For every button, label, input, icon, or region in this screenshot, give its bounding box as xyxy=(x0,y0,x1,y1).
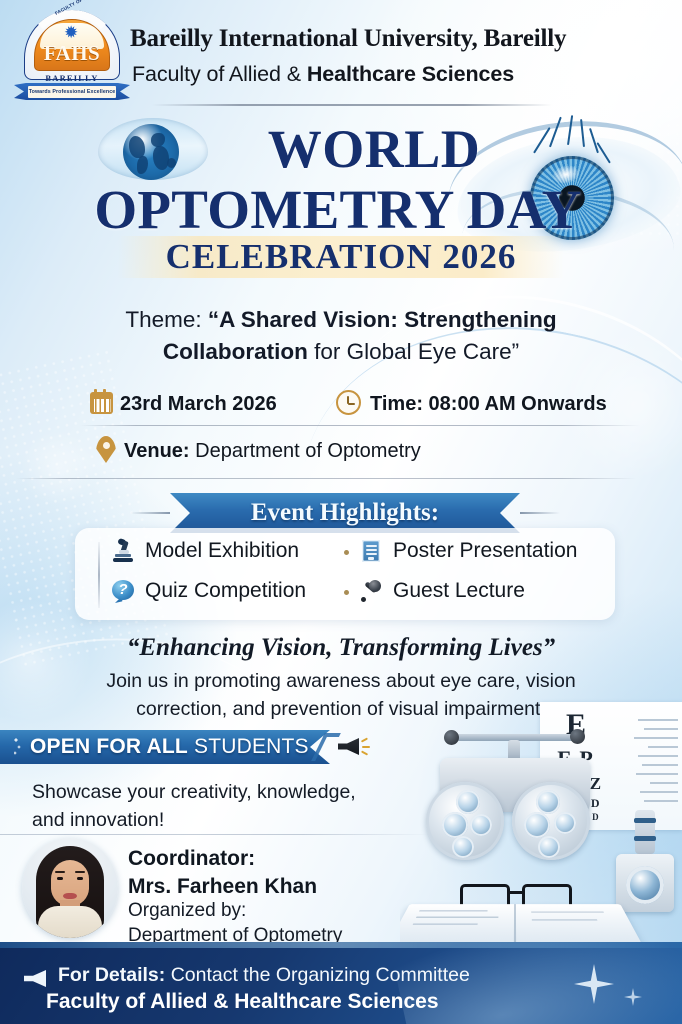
megaphone-horn xyxy=(338,738,359,755)
coordinator-divider xyxy=(0,834,430,835)
avatar-eye xyxy=(77,877,83,880)
location-pin-icon xyxy=(96,436,116,463)
logo-ribbon-text: Towards Professional Excellence xyxy=(28,86,116,98)
highlight-item-guest-lecture[interactable]: Guest Lecture xyxy=(358,578,525,604)
highlight-label: Guest Lecture xyxy=(393,579,525,603)
calendar-icon xyxy=(90,392,113,414)
event-venue: Venue: Department of Optometry xyxy=(124,440,421,463)
highlight-item-quiz-competition[interactable]: ? Quiz Competition xyxy=(110,578,306,604)
optometry-equipment-photo: E F P T O Z L P E D P E C F D xyxy=(400,698,682,948)
highlight-label: Quiz Competition xyxy=(145,579,306,603)
banner-tail-left xyxy=(130,512,170,514)
highlight-label: Poster Presentation xyxy=(393,539,577,563)
book-text-line xyxy=(419,910,487,911)
organized-by: Organized by: Department of Optometry xyxy=(128,898,428,948)
footer-details-line: For Details: Contact the Organizing Comm… xyxy=(58,964,470,987)
title-line-2: OPTOMETRY DAY xyxy=(0,182,682,237)
question-bubble-icon: ? xyxy=(110,578,136,604)
details-divider-2 xyxy=(16,478,636,479)
highlight-label: Model Exhibition xyxy=(145,539,299,563)
theme-label: Theme: xyxy=(125,307,208,332)
bullet-dot xyxy=(344,590,349,595)
event-highlights-banner: Event Highlights: xyxy=(170,493,520,533)
lensmeter-icon xyxy=(616,810,674,916)
location-pin-hole xyxy=(103,442,110,449)
header-divider xyxy=(152,104,552,106)
highlight-item-model-exhibition[interactable]: Model Exhibition xyxy=(110,538,299,564)
highlights-grid: Model Exhibition ? Quiz Competition Post… xyxy=(86,536,616,614)
avatar-lips xyxy=(63,893,77,899)
sparkle-icon xyxy=(14,738,21,756)
coordinator-info: Coordinator: Mrs. Farheen Khan xyxy=(128,845,428,901)
phoropter-lens xyxy=(470,814,492,836)
megaphone-horn xyxy=(24,970,46,987)
poster-footer: For Details: Contact the Organizing Comm… xyxy=(0,942,682,1024)
phoropter-right-disc xyxy=(512,782,590,860)
title-line-3: CELEBRATION 2026 xyxy=(0,239,682,274)
phoropter-lens xyxy=(538,836,560,858)
avatar-scarf xyxy=(38,906,102,938)
book-text-line xyxy=(532,919,598,920)
poster-header: FACULTY OF ALLIED AND HEALTHCARE SCIENCE… xyxy=(0,0,682,112)
microphone-icon xyxy=(358,578,384,604)
phoropter-icon xyxy=(420,728,610,878)
microscope-icon xyxy=(110,538,136,564)
faculty-name-regular: Faculty of Allied & xyxy=(132,62,307,86)
phoropter-left-disc xyxy=(426,782,504,860)
footer-faculty: Faculty of Allied & Healthcare Sciences xyxy=(46,990,439,1014)
avatar xyxy=(22,838,118,938)
bokeh-circle xyxy=(20,430,96,506)
logo-arc-glyph: FACULTY OF ALLIED AND HEALTHCARE SCIENCE… xyxy=(54,0,165,16)
book-text-line xyxy=(531,911,604,912)
open-for-all-text: OPEN FOR ALL STUDENTS xyxy=(30,735,309,759)
theme-quote-bold2: Collaboration xyxy=(163,339,308,364)
subtext-line-1: Join us in promoting awareness about eye… xyxy=(106,670,575,692)
showcase-line-1: Showcase your creativity, knowledge, xyxy=(32,781,356,803)
chart-side-lines xyxy=(614,712,678,802)
phoropter-knob xyxy=(444,730,459,745)
theme-quote-rest2: for Global Eye Care” xyxy=(308,339,519,364)
lensmeter-band xyxy=(634,818,656,823)
lensmeter-band xyxy=(634,836,656,841)
faculty-name-bold: Healthcare Sciences xyxy=(307,62,514,86)
megaphone-wave xyxy=(361,750,368,755)
glasses-bridge xyxy=(510,891,524,894)
showcase-line-2: and innovation! xyxy=(32,809,164,831)
highlight-item-poster-presentation[interactable]: Poster Presentation xyxy=(358,538,577,564)
fahs-logo: FACULTY OF ALLIED AND HEALTHCARE SCIENCE… xyxy=(14,10,130,102)
poster-canvas: FACULTY OF ALLIED AND HEALTHCARE SCIENCE… xyxy=(0,0,682,1024)
event-theme: Theme: “A Shared Vision: Strengthening C… xyxy=(60,304,622,369)
event-highlights-title: Event Highlights: xyxy=(170,499,520,527)
event-time: Time: 08:00 AM Onwards xyxy=(370,393,607,416)
book-text-line xyxy=(416,917,498,918)
venue-value: Department of Optometry xyxy=(195,440,421,462)
organized-by-label: Organized by: xyxy=(128,900,246,921)
megaphone-icon xyxy=(336,733,370,761)
megaphone-icon xyxy=(22,966,54,992)
avatar-eye xyxy=(57,877,63,880)
poster-document-icon xyxy=(358,538,384,564)
footer-details-label: For Details: xyxy=(58,964,171,986)
university-name: Bareilly International University, Barei… xyxy=(130,25,566,53)
phoropter-lens xyxy=(524,812,550,838)
title-line-1: WORLD xyxy=(0,122,682,176)
banner-tail-right xyxy=(520,512,560,514)
lensmeter-column xyxy=(635,810,655,854)
logo-acronym: FAHS xyxy=(34,41,110,66)
star-of-life-icon: ✹ xyxy=(64,24,78,41)
theme-quote-line1: “A Shared Vision: Strengthening xyxy=(208,307,557,332)
phoropter-lens xyxy=(442,812,468,838)
clock-icon xyxy=(336,390,361,415)
phoropter-lens xyxy=(536,790,560,814)
details-divider-1 xyxy=(80,425,640,426)
logo-city: BAREILLY xyxy=(24,73,120,83)
coordinator-role: Coordinator: xyxy=(128,847,255,870)
open-for-all-bold: OPEN FOR ALL xyxy=(30,735,188,758)
highlights-column-divider xyxy=(98,542,100,608)
phoropter-lens xyxy=(452,836,474,858)
venue-label: Venue: xyxy=(124,440,195,462)
faculty-name: Faculty of Allied & Healthcare Sciences xyxy=(132,62,514,87)
coordinator-name: Mrs. Farheen Khan xyxy=(128,875,317,898)
event-tagline: “Enhancing Vision, Transforming Lives” xyxy=(40,634,642,662)
footer-details-value: Contact the Organizing Committee xyxy=(171,964,470,986)
phoropter-lens xyxy=(456,790,480,814)
showcase-text: Showcase your creativity, knowledge, and… xyxy=(32,778,392,835)
lensmeter-lens xyxy=(626,866,664,904)
open-book-icon xyxy=(400,904,642,943)
phoropter-lens xyxy=(554,812,576,834)
megaphone-wave xyxy=(361,737,368,742)
bullet-dot xyxy=(344,550,349,555)
phoropter-knob xyxy=(570,729,585,744)
open-for-all-light: STUDENTS xyxy=(188,735,309,758)
event-date: 23rd March 2026 xyxy=(120,393,277,416)
megaphone-wave xyxy=(362,746,370,748)
